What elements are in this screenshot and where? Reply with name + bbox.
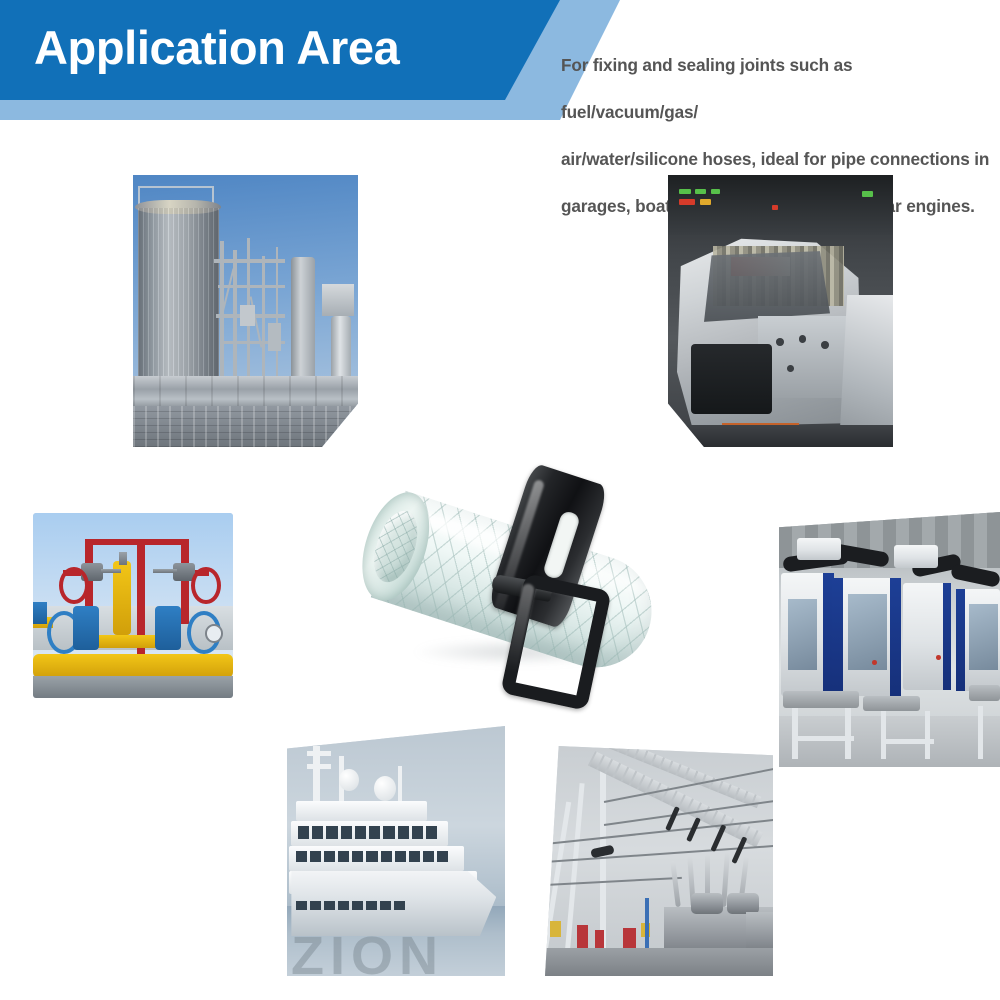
hose-clamp	[484, 471, 602, 677]
chemical-plant-photo	[133, 175, 358, 447]
description-line-1: For fixing and sealing joints such as fu…	[561, 42, 993, 136]
next-car-body	[839, 295, 893, 447]
substation-ground	[545, 948, 773, 976]
radar-dome	[374, 776, 396, 801]
automotive-assembly-photo	[668, 175, 893, 447]
cnc-machinery-image	[779, 512, 1000, 767]
ground-structure	[133, 406, 358, 447]
distillation-column	[291, 257, 316, 388]
factory-floor	[668, 425, 893, 447]
wheel-arch-shadow	[691, 344, 772, 415]
chemical-plant-image	[133, 175, 358, 447]
power-substation-image	[545, 746, 773, 976]
radar-dome	[339, 769, 359, 792]
cruise-ship-photo: ZION	[287, 726, 505, 976]
power-substation-photo	[545, 746, 773, 976]
page-title: Application Area	[34, 16, 399, 80]
gas-pipeline-image	[33, 513, 233, 698]
equipment-box	[322, 284, 354, 317]
automotive-assembly-image	[668, 175, 893, 447]
cruise-ship-image: ZION	[287, 726, 505, 976]
cnc-machinery-photo	[779, 512, 1000, 767]
window-opening	[704, 251, 830, 322]
hose-clamp-product	[352, 443, 670, 691]
gas-pipeline-photo	[33, 513, 233, 698]
application-area-page: Application Area For fixing and sealing …	[0, 0, 1000, 1000]
valve-handwheel	[191, 567, 221, 605]
ceiling-equipment	[668, 175, 893, 235]
valve-handwheel	[59, 567, 89, 605]
watermark: ZION	[287, 936, 505, 976]
storage-tank	[138, 208, 219, 404]
walkway-deck	[33, 676, 233, 698]
pipe-rack	[133, 376, 358, 409]
pressure-gauge	[205, 624, 223, 643]
